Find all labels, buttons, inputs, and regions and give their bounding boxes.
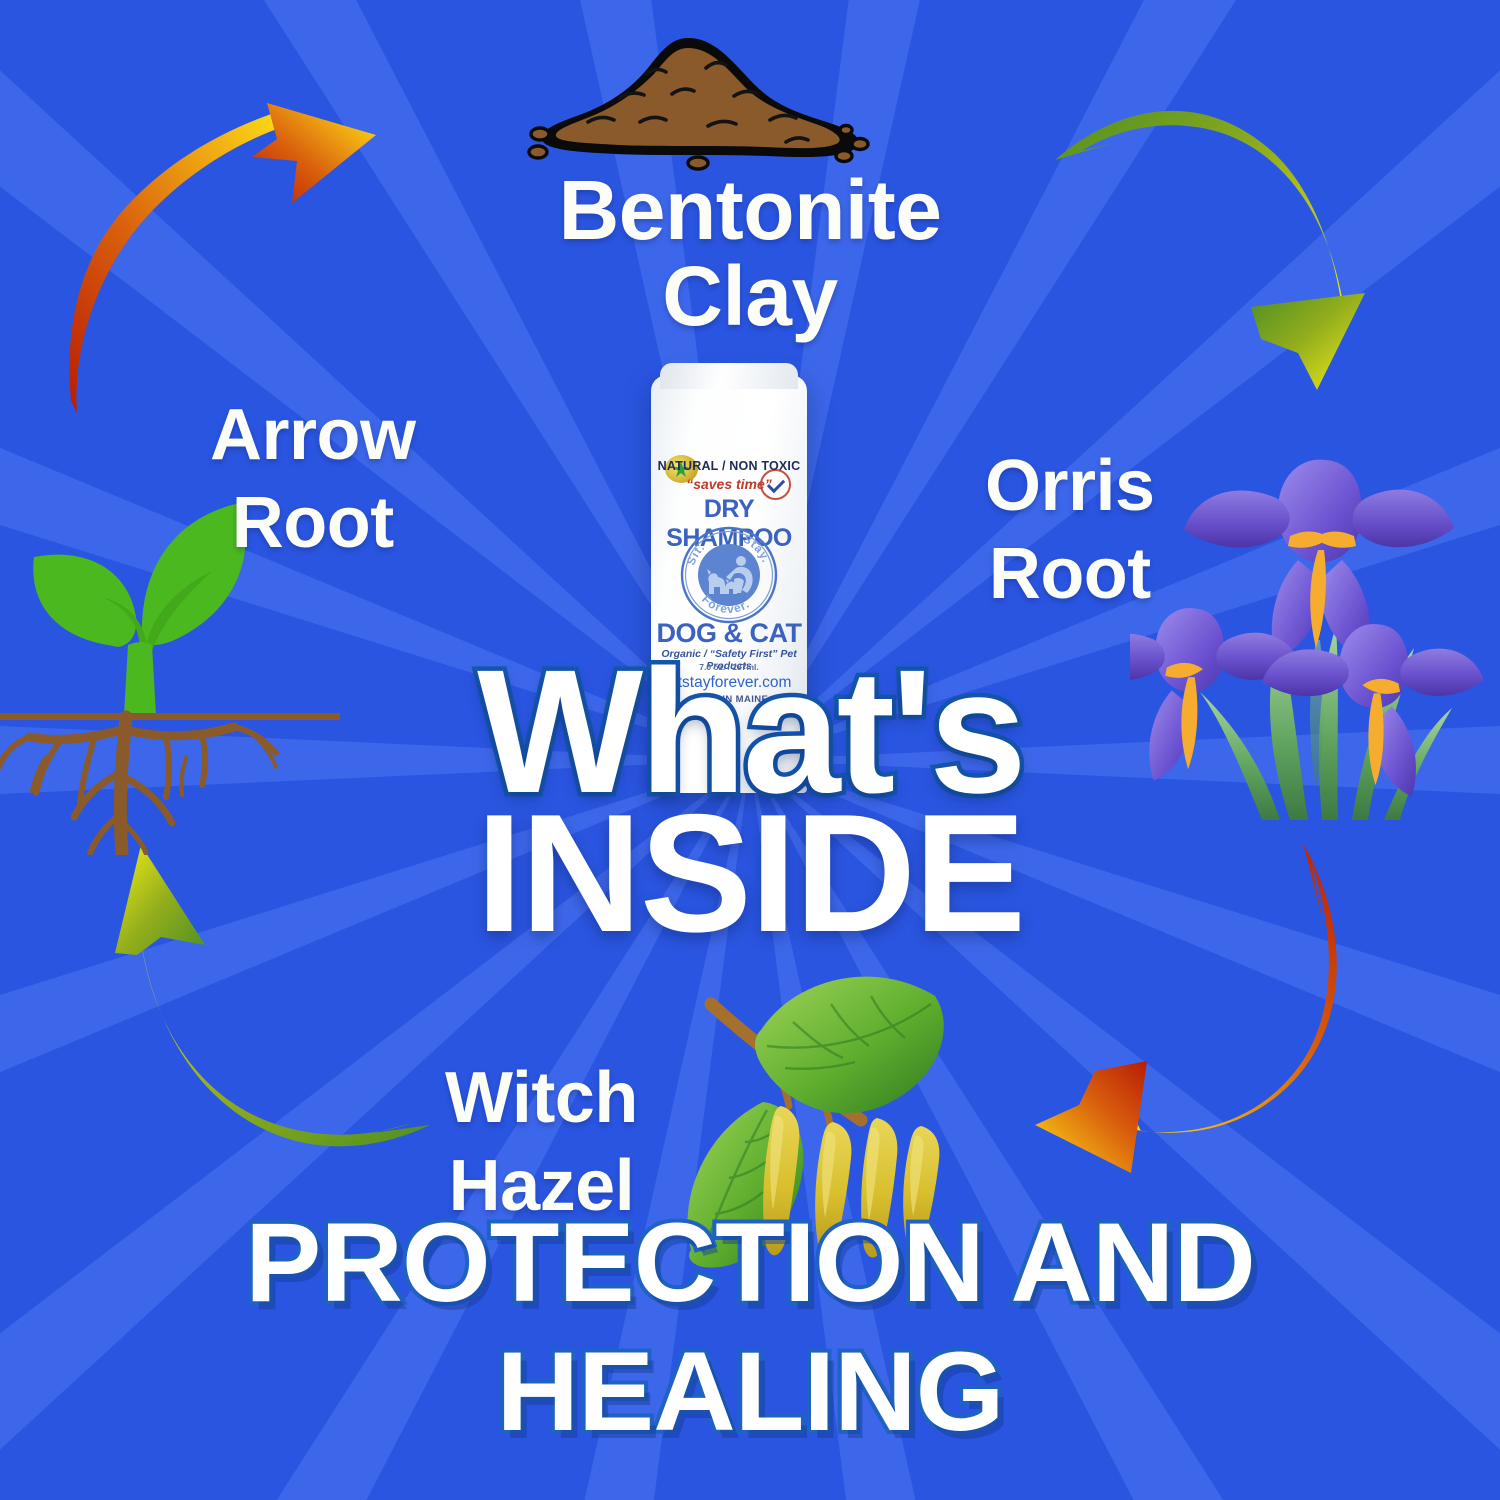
bottle-cap [660, 363, 798, 389]
label-website: sitstayforever.com [651, 674, 807, 692]
label-natural-nontoxic: NATURAL / NON TOXIC [651, 459, 807, 473]
arrow-bottom-left-icon [95, 835, 440, 1190]
bottom-banner: PROTECTION AND HEALING [0, 1198, 1500, 1456]
clay-mound-icon [520, 30, 880, 175]
label-dog-and-cat: DOG & CAT [651, 618, 807, 649]
ingredient-label-orris-root: Orris Root [985, 443, 1155, 619]
label-origin: MADE IN MAINE [651, 694, 807, 705]
ingredient-label-arrow-root: Arrow Root [210, 392, 416, 568]
product-bottle: NATURAL / NON TOXIC “saves time” DRY SHA… [651, 363, 807, 793]
label-size: 7.0 oz. / 237ml. [651, 662, 807, 672]
label-saves-time: “saves time” [651, 476, 807, 492]
infographic-canvas: NATURAL / NON TOXIC “saves time” DRY SHA… [0, 0, 1500, 1500]
arrow-bottom-right-icon [1035, 825, 1375, 1175]
iris-flower-icon [1130, 440, 1500, 820]
sit-stay-forever-logo-icon: Sit. Stay. Forever. [679, 525, 779, 625]
banner-text: PROTECTION AND HEALING [0, 1198, 1500, 1456]
ingredient-label-bentonite-clay: Bentonite Clay [0, 168, 1500, 339]
